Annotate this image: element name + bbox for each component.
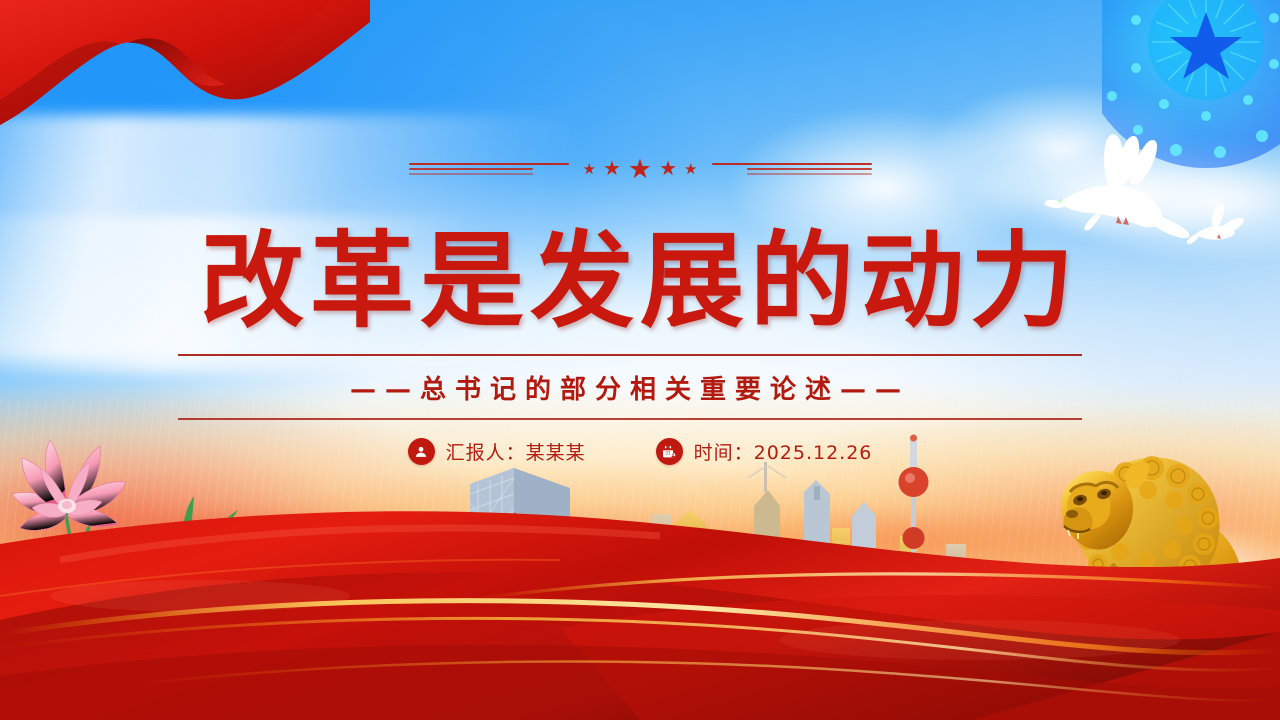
- calendar-icon: 31: [656, 438, 683, 465]
- presenter-label: 汇报人：某某某: [446, 438, 586, 465]
- red-star-icon: ★: [628, 156, 652, 183]
- red-star-icon: ★: [603, 159, 621, 179]
- divider-lines-left: [409, 163, 569, 175]
- divider-lines-right: [712, 163, 872, 175]
- presentation-title-slide: ★ ★ ★ ★ ★ 改革是发展的动力 ——总书记的部分相关重要论述——: [0, 0, 1280, 720]
- star-divider: ★ ★ ★ ★ ★: [0, 152, 1280, 186]
- red-star-icon: ★: [684, 162, 697, 177]
- red-star-icon: ★: [659, 159, 677, 179]
- page-subtitle: ——总书记的部分相关重要论述——: [178, 356, 1082, 418]
- person-icon: [408, 438, 435, 465]
- red-star-icon: ★: [583, 162, 596, 177]
- subtitle-rule-top: [178, 354, 1082, 356]
- calendar-day-number: 31: [665, 450, 671, 456]
- meta-row: 汇报人：某某某 31 时间：2025.12.26: [0, 438, 1280, 465]
- page-title: 改革是发展的动力: [0, 196, 1280, 347]
- presenter-item: 汇报人：某某某: [408, 438, 586, 465]
- subtitle-block: ——总书记的部分相关重要论述——: [178, 354, 1082, 420]
- subtitle-rule-bottom: [178, 418, 1082, 420]
- date-item: 31 时间：2025.12.26: [656, 438, 873, 465]
- divider-stars: ★ ★ ★ ★ ★: [583, 156, 698, 183]
- date-label: 时间：2025.12.26: [694, 438, 873, 465]
